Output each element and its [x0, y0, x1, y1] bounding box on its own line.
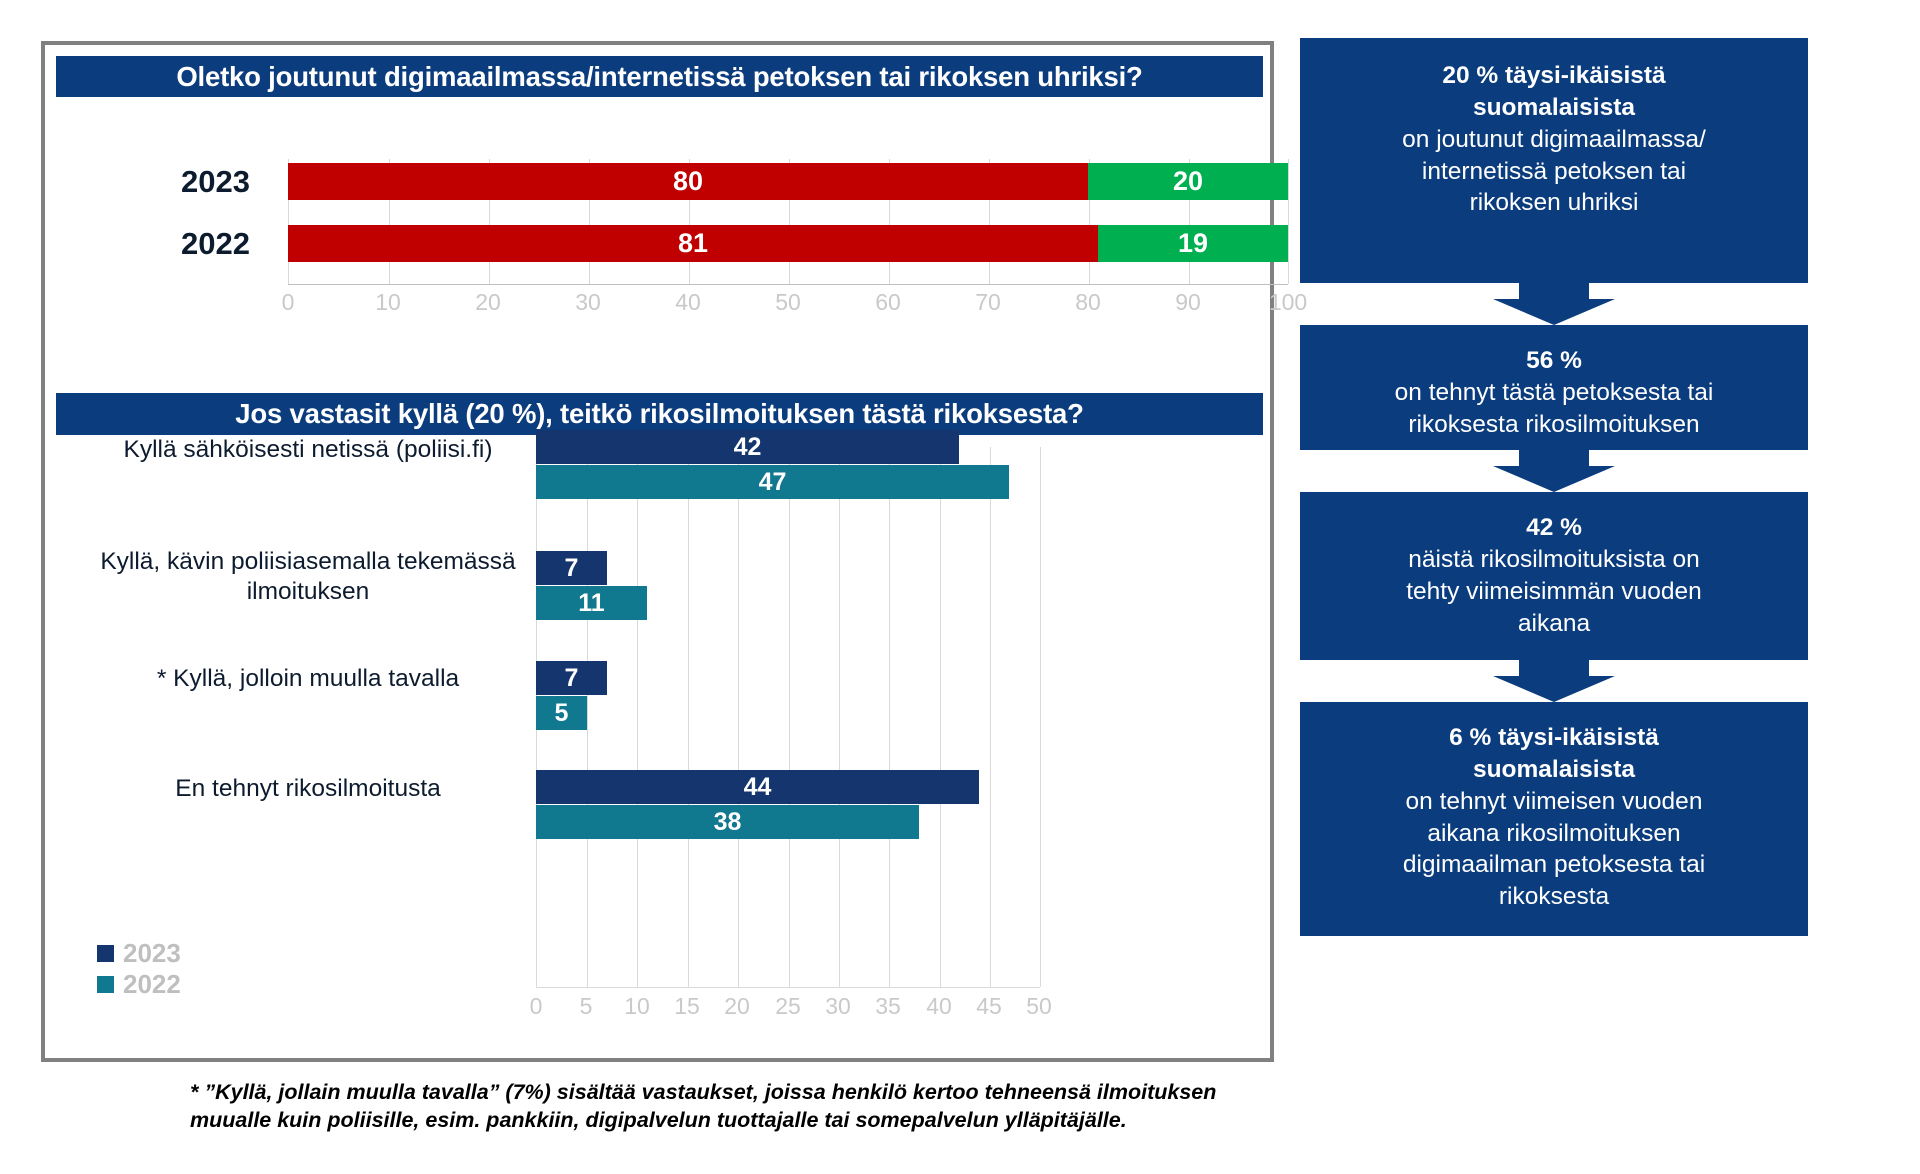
bar-value: 7: [536, 664, 607, 693]
top-chart-bar-2022: 81 19: [288, 225, 1288, 262]
flow-step-1-body-2: internetissä petoksen tai: [1322, 156, 1786, 188]
bar-2023-cat4: 44: [536, 770, 979, 804]
flow-arrow-3-wrap: [1300, 660, 1808, 702]
legend-swatch-icon: [97, 976, 114, 993]
flow-step-4-highlight-2: suomalaisista: [1322, 754, 1786, 786]
flow-step-1: 20 % täysi-ikäisistä suomalaisista on jo…: [1300, 38, 1808, 283]
flow-arrow-1-wrap: [1300, 283, 1808, 325]
x-tick: 70: [975, 289, 1001, 316]
chart-title-report: Jos vastasit kyllä (20 %), teitkö rikosi…: [56, 393, 1263, 435]
x-tick: 5: [580, 993, 593, 1020]
x-tick: 60: [875, 289, 901, 316]
bar-segment-no-2023: 80: [288, 163, 1088, 200]
legend-label: 2022: [123, 969, 181, 1000]
x-tick: 45: [976, 993, 1002, 1020]
bar-value: 5: [536, 699, 587, 728]
infographic-root: Oletko joutunut digimaailmassa/interneti…: [0, 0, 1920, 1174]
bar-2022-cat2: 11: [536, 586, 647, 620]
x-tick: 50: [1026, 993, 1052, 1020]
flow-step-3-body-2: tehty viimeisimmän vuoden: [1322, 576, 1786, 608]
charts-panel: Oletko joutunut digimaailmassa/interneti…: [41, 41, 1274, 1062]
x-tick: 40: [675, 289, 701, 316]
x-tick: 90: [1175, 289, 1201, 316]
flow-step-4-highlight-1: 6 % täysi-ikäisistä: [1322, 722, 1786, 754]
bar-2023-cat3: 7: [536, 661, 607, 695]
top-chart-axis-line: [288, 284, 1288, 285]
bar-segment-no-2022: 81: [288, 225, 1098, 262]
flow-step-3-body-1: näistä rikosilmoituksista on: [1322, 544, 1786, 576]
top-chart-bar-2023: 80 20: [288, 163, 1288, 200]
flow-step-1-body-3: rikoksen uhriksi: [1322, 187, 1786, 219]
bar-value: 42: [536, 433, 959, 462]
bottom-chart-plot-area: [536, 447, 1040, 987]
top-chart-category-2022: 2022: [110, 226, 250, 262]
legend-swatch-icon: [97, 945, 114, 962]
down-arrow-icon: [1493, 450, 1615, 492]
footnote-line-1: * ”Kyllä, jollain muulla tavalla” (7%) s…: [190, 1078, 1270, 1106]
flow-step-4-body-1: on tehnyt viimeisen vuoden: [1322, 786, 1786, 818]
bottom-chart-legend: 2023 2022: [97, 938, 181, 1000]
x-tick: 20: [475, 289, 501, 316]
chart-title-victim: Oletko joutunut digimaailmassa/interneti…: [56, 56, 1263, 97]
flow-arrow-2-wrap: [1300, 450, 1808, 492]
down-arrow-icon: [1493, 283, 1615, 325]
x-tick: 40: [926, 993, 952, 1020]
flow-step-4-body-4: rikoksesta: [1322, 881, 1786, 913]
chart-victimization: 2023 2022 80 20 81 19 0 10 20 30 40 50 6…: [56, 107, 1263, 377]
bar-value: 11: [536, 589, 647, 618]
bar-value: 47: [536, 468, 1009, 497]
x-tick: 50: [775, 289, 801, 316]
x-tick: 15: [674, 993, 700, 1020]
bar-2022-cat3: 5: [536, 696, 587, 730]
bottom-chart-category-3: * Kyllä, jolloin muulla tavalla: [98, 664, 518, 694]
footnote-line-2: muualle kuin poliisille, esim. pankkiin,…: [190, 1106, 1270, 1134]
x-tick: 35: [875, 993, 901, 1020]
bottom-chart-x-axis: 0 5 10 15 20 25 30 35 40 45 50: [536, 993, 1040, 1023]
x-tick: 80: [1075, 289, 1101, 316]
flow-step-2: 56 % on tehnyt tästä petoksesta tai riko…: [1300, 325, 1808, 450]
x-tick: 25: [775, 993, 801, 1020]
x-tick: 30: [825, 993, 851, 1020]
x-tick: 10: [375, 289, 401, 316]
footnote: * ”Kyllä, jollain muulla tavalla” (7%) s…: [190, 1078, 1270, 1135]
bottom-chart-category-2: Kyllä, kävin poliisiasemalla tekemässä i…: [98, 547, 518, 607]
x-tick: 0: [530, 993, 543, 1020]
flow-step-2-body-1: on tehnyt tästä petoksesta tai: [1322, 377, 1786, 409]
flow-step-2-body-2: rikoksesta rikosilmoituksen: [1322, 409, 1786, 441]
down-arrow-icon: [1493, 660, 1615, 702]
x-tick: 20: [724, 993, 750, 1020]
bottom-chart-axis-line: [536, 987, 1040, 988]
flow-step-3-highlight: 42 %: [1322, 512, 1786, 544]
flow-step-4-body-2: aikana rikosilmoituksen: [1322, 818, 1786, 850]
legend-label: 2023: [123, 938, 181, 969]
flow-step-4-body-3: digimaailman petoksesta tai: [1322, 849, 1786, 881]
x-tick: 0: [282, 289, 295, 316]
summary-flow: 20 % täysi-ikäisistä suomalaisista on jo…: [1300, 38, 1808, 936]
legend-item-2023[interactable]: 2023: [97, 938, 181, 969]
bar-2022-cat4: 38: [536, 805, 919, 839]
bar-value: 44: [536, 773, 979, 802]
flow-step-3-body-3: aikana: [1322, 608, 1786, 640]
flow-step-4: 6 % täysi-ikäisistä suomalaisista on teh…: [1300, 702, 1808, 936]
flow-step-2-highlight: 56 %: [1322, 345, 1786, 377]
flow-step-3: 42 % näistä rikosilmoituksista on tehty …: [1300, 492, 1808, 660]
chart-police-report: Kyllä sähköisesti netissä (poliisi.fi) 4…: [56, 437, 1263, 1047]
bar-segment-yes-2022: 19: [1098, 225, 1288, 262]
bottom-chart-category-4: En tehnyt rikosilmoitusta: [98, 774, 518, 804]
top-chart-category-2023: 2023: [110, 164, 250, 200]
flow-step-1-body-1: on joutunut digimaailmassa/: [1322, 124, 1786, 156]
bottom-chart-category-1: Kyllä sähköisesti netissä (poliisi.fi): [98, 435, 518, 465]
bar-2022-cat1: 47: [536, 465, 1009, 499]
bar-segment-yes-2023: 20: [1088, 163, 1288, 200]
x-tick: 30: [575, 289, 601, 316]
legend-item-2022[interactable]: 2022: [97, 969, 181, 1000]
top-chart-x-axis: 0 10 20 30 40 50 60 70 80 90 100: [288, 289, 1288, 319]
flow-step-1-highlight-2: suomalaisista: [1322, 92, 1786, 124]
bar-2023-cat2: 7: [536, 551, 607, 585]
bar-value: 38: [536, 808, 919, 837]
flow-step-1-highlight-1: 20 % täysi-ikäisistä: [1322, 60, 1786, 92]
bar-2023-cat1: 42: [536, 430, 959, 464]
x-tick: 10: [624, 993, 650, 1020]
bar-value: 7: [536, 554, 607, 583]
